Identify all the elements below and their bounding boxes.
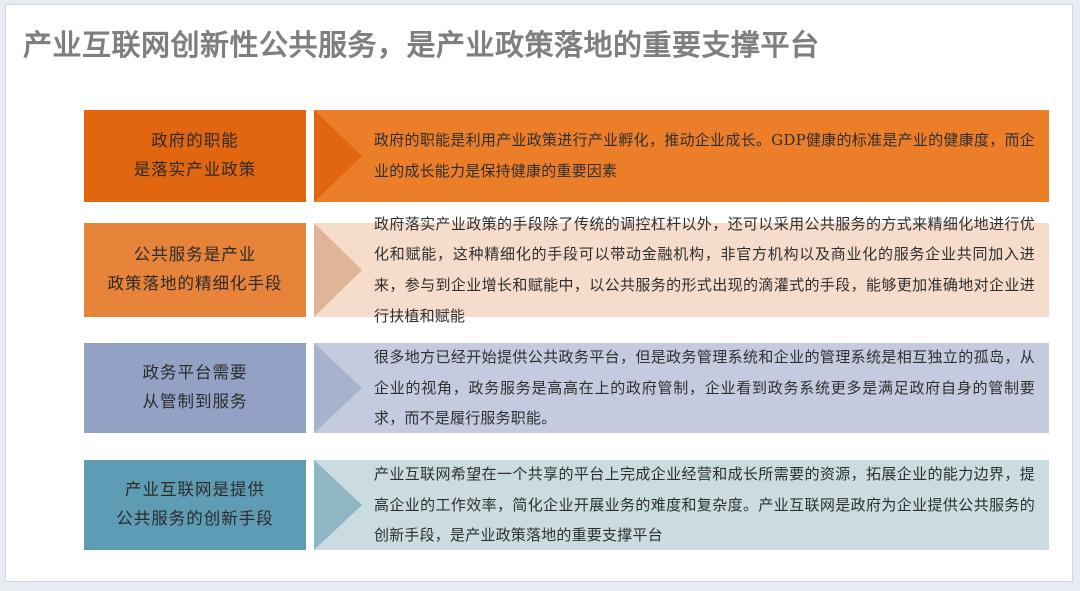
row-body-text: 政府落实产业政策的手段除了传统的调控杠杆以外，还可以采用公共服务的方式来精细化地… [374,209,1035,332]
row-label-text: 产业互联网是提供 公共服务的创新手段 [116,476,274,534]
row-label-block[interactable]: 政府的职能 是落实产业政策 [84,110,306,202]
chevron-right-icon [314,343,362,433]
row-body-panel: 政府落实产业政策的手段除了传统的调控杠杆以外，还可以采用公共服务的方式来精细化地… [314,223,1049,317]
row-label-text: 政府的职能 是落实产业政策 [134,127,257,185]
row-label-block[interactable]: 公共服务是产业 政策落地的精细化手段 [84,223,306,317]
slide-canvas: 产业互联网创新性公共服务，是产业政策落地的重要支撑平台 政府的职能 是落实产业政… [5,4,1073,582]
row-label-block[interactable]: 产业互联网是提供 公共服务的创新手段 [84,460,306,550]
row-label-text: 公共服务是产业 政策落地的精细化手段 [108,241,283,299]
content-row: 产业互联网是提供 公共服务的创新手段产业互联网希望在一个共享的平台上完成企业经营… [84,460,1049,550]
chevron-right-icon [314,110,362,202]
row-body-text-container: 政府的职能是利用产业政策进行产业孵化，推动企业成长。GDP健康的标准是产业的健康… [374,110,1035,202]
row-label-block[interactable]: 政务平台需要 从管制到服务 [84,343,306,433]
row-body-text: 很多地方已经开始提供公共政务平台，但是政务管理系统和企业的管理系统是相互独立的孤… [374,342,1035,434]
content-row: 政务平台需要 从管制到服务很多地方已经开始提供公共政务平台，但是政务管理系统和企… [84,343,1049,433]
row-body-panel: 产业互联网希望在一个共享的平台上完成企业经营和成长所需要的资源，拓展企业的能力边… [314,460,1049,550]
content-row: 政府的职能 是落实产业政策政府的职能是利用产业政策进行产业孵化，推动企业成长。G… [84,110,1049,202]
row-body-text: 产业互联网希望在一个共享的平台上完成企业经营和成长所需要的资源，拓展企业的能力边… [374,459,1035,551]
chevron-right-icon [314,460,362,550]
row-body-text-container: 很多地方已经开始提供公共政务平台，但是政务管理系统和企业的管理系统是相互独立的孤… [374,343,1035,433]
row-body-text-container: 产业互联网希望在一个共享的平台上完成企业经营和成长所需要的资源，拓展企业的能力边… [374,460,1035,550]
row-body-text: 政府的职能是利用产业政策进行产业孵化，推动企业成长。GDP健康的标准是产业的健康… [374,125,1035,187]
row-body-panel: 很多地方已经开始提供公共政务平台，但是政务管理系统和企业的管理系统是相互独立的孤… [314,343,1049,433]
row-body-text-container: 政府落实产业政策的手段除了传统的调控杠杆以外，还可以采用公共服务的方式来精细化地… [374,223,1035,317]
content-row: 公共服务是产业 政策落地的精细化手段政府落实产业政策的手段除了传统的调控杠杆以外… [84,223,1049,317]
content-rows: 政府的职能 是落实产业政策政府的职能是利用产业政策进行产业孵化，推动企业成长。G… [6,5,1072,581]
row-body-panel: 政府的职能是利用产业政策进行产业孵化，推动企业成长。GDP健康的标准是产业的健康… [314,110,1049,202]
chevron-right-icon [314,223,362,317]
row-label-text: 政务平台需要 从管制到服务 [143,359,248,417]
